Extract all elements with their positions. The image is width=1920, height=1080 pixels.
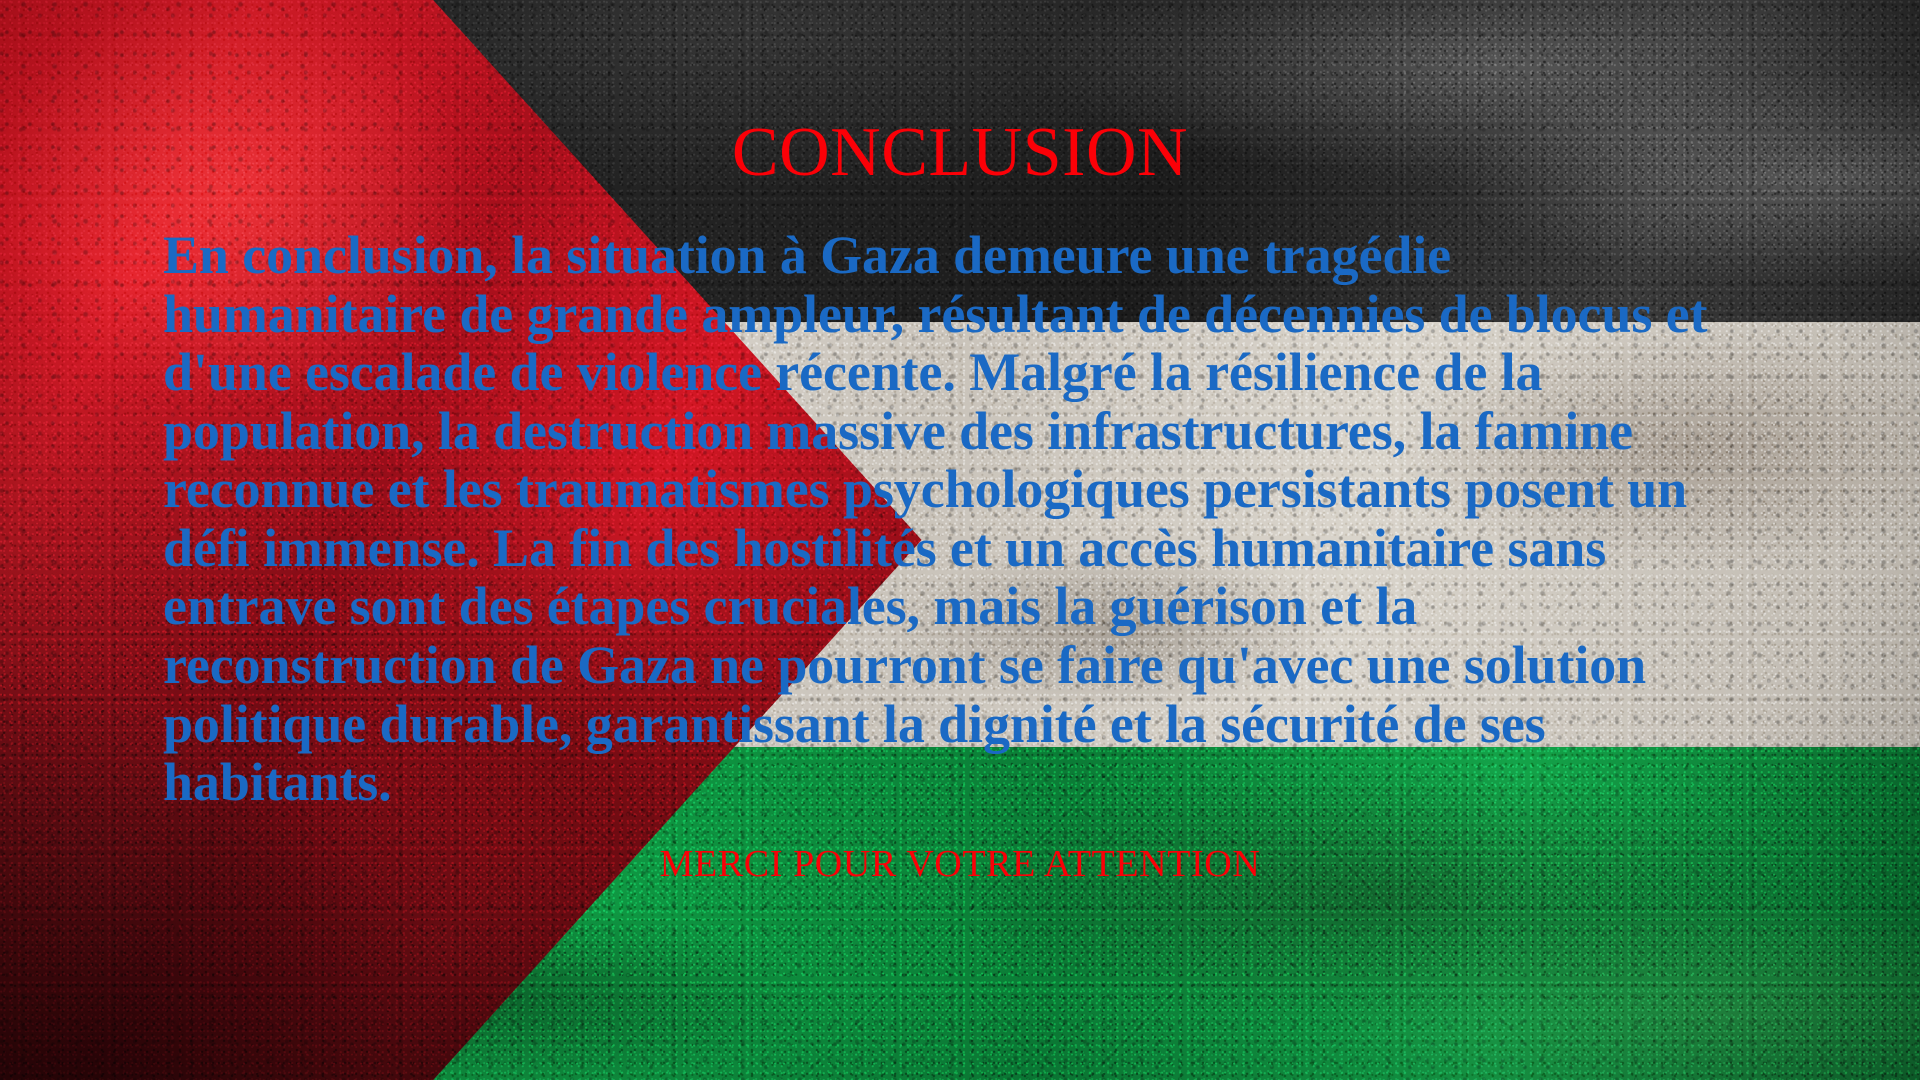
slide-content: CONCLUSION En conclusion, la situation à… [0,0,1920,1080]
slide-body-paragraph: En conclusion, la situation à Gaza demeu… [163,226,1743,812]
presentation-slide: CONCLUSION En conclusion, la situation à… [0,0,1920,1080]
slide-closing-note: MERCI POUR VOTRE ATTENTION [0,845,1920,883]
slide-title: CONCLUSION [0,118,1920,188]
